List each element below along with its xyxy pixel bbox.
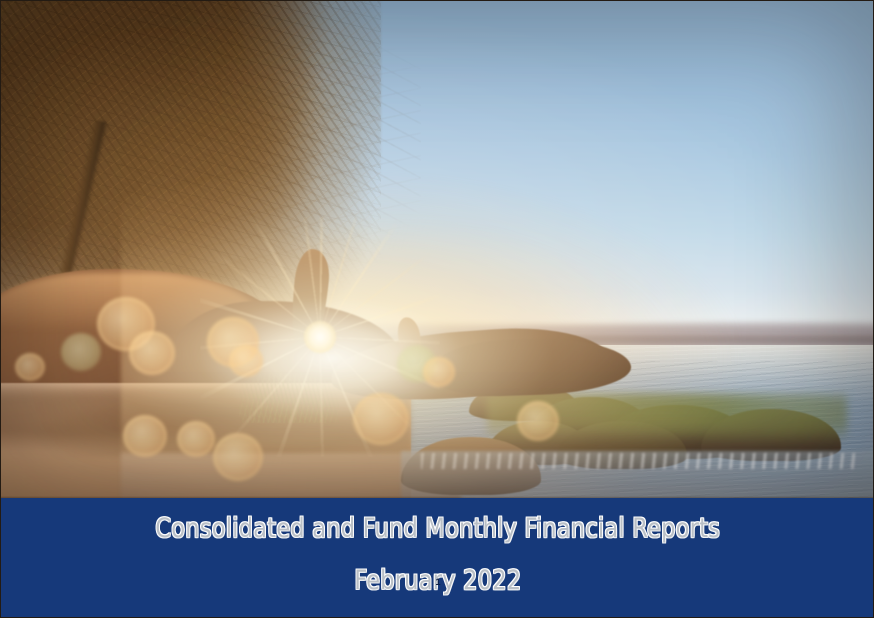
title-band: Consolidated and Fund Monthly Financial …	[1, 498, 874, 618]
sunset-lake-foreshore-photo	[1, 1, 874, 501]
report-title: Consolidated and Fund Monthly Financial …	[156, 512, 721, 546]
report-cover-page: Consolidated and Fund Monthly Financial …	[0, 0, 874, 618]
page-number: 1	[1, 577, 874, 587]
vignette-overlay	[1, 1, 874, 501]
